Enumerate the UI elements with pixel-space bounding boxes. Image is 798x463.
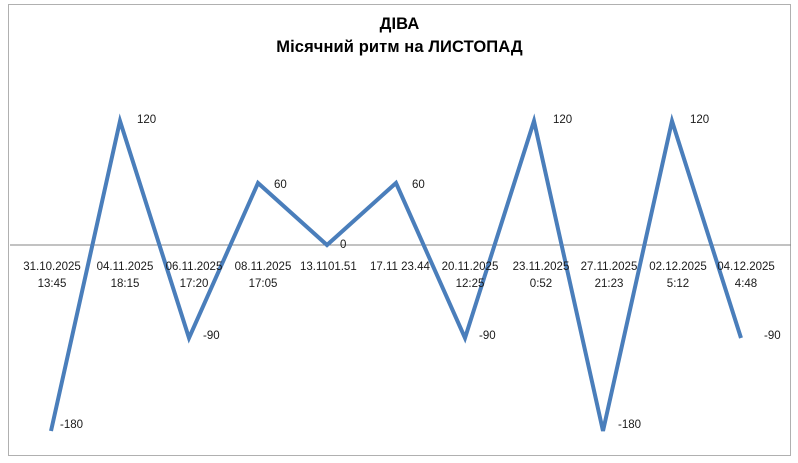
- x-axis-label-time: 4:48: [711, 276, 781, 293]
- x-axis-label-time: 0:52: [506, 276, 576, 293]
- x-axis-label-time: 5:12: [643, 276, 713, 293]
- x-axis-label-time: 12:25: [435, 276, 505, 293]
- data-label: -90: [764, 330, 781, 342]
- data-label: 120: [553, 114, 572, 126]
- x-axis-label: 23.11.2025 0:52: [506, 259, 576, 292]
- data-label: 60: [412, 179, 425, 191]
- x-axis-label-date: 31.10.2025: [17, 259, 87, 276]
- data-label: -90: [203, 330, 220, 342]
- data-label: -90: [479, 330, 496, 342]
- x-axis-label: 06.11.2025 17:20: [159, 259, 229, 292]
- x-axis-label-date: 17.11: [370, 261, 398, 273]
- x-axis-label-date: 04.12.2025: [711, 259, 781, 276]
- x-axis-label-date: 04.11.2025: [90, 259, 160, 276]
- chart-container: ДІВА Місячний ритм на ЛИСТОПАД -180 120 …: [8, 4, 791, 456]
- x-axis-label-date: 20.11.2025: [435, 259, 505, 276]
- x-axis-label-time: 17:20: [159, 276, 229, 293]
- data-label: -180: [618, 419, 641, 431]
- x-axis-label-date: 06.11.2025: [159, 259, 229, 276]
- x-axis-label: 04.12.2025 4:48: [711, 259, 781, 292]
- x-axis-label-date: 23.11.2025: [506, 259, 576, 276]
- x-axis-label-time: 17:05: [228, 276, 298, 293]
- x-axis-label-date: 02.12.2025: [643, 259, 713, 276]
- x-axis-label: 13.1101.51: [294, 259, 366, 276]
- x-axis-label-time: 18:15: [90, 276, 160, 293]
- x-axis-label-date: 08.11.2025: [228, 259, 298, 276]
- line-chart-svg: [9, 5, 792, 457]
- x-axis-label-date: 27.11.2025: [574, 259, 644, 276]
- x-axis-label-time: 23.44: [401, 261, 430, 273]
- x-axis-label: 17.11 23.44: [366, 259, 440, 276]
- data-label: 120: [137, 114, 156, 126]
- x-axis-label: 31.10.2025 13:45: [17, 259, 87, 292]
- x-axis-label: 20.11.2025 12:25: [435, 259, 505, 292]
- x-axis-label: 02.12.2025 5:12: [643, 259, 713, 292]
- x-axis-label-time: 01.51: [328, 261, 357, 273]
- x-axis-label-time: 21:23: [574, 276, 644, 293]
- x-axis-label-date: 13.11: [300, 261, 328, 273]
- plot-area: [9, 5, 792, 457]
- x-axis-label: 27.11.2025 21:23: [574, 259, 644, 292]
- data-label: 120: [690, 114, 709, 126]
- data-label: 60: [274, 179, 287, 191]
- x-axis-label: 08.11.2025 17:05: [228, 259, 298, 292]
- data-label: 0: [340, 239, 346, 251]
- data-label: -180: [60, 419, 83, 431]
- x-axis-label-time: 13:45: [17, 276, 87, 293]
- x-axis-label: 04.11.2025 18:15: [90, 259, 160, 292]
